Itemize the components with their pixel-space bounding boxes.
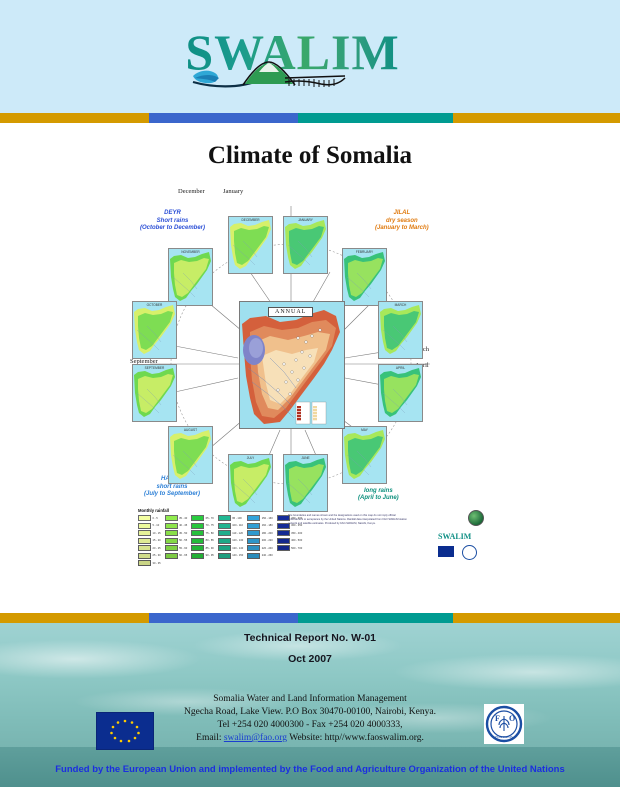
legend-swatch-label: 240 - 260 [262,554,273,557]
season-label-jilal: JILAL dry season (January to March) [375,210,429,233]
legend-swatch [165,530,178,536]
legend-swatch [191,515,204,521]
legend-swatch-label: 45 - 50 [179,532,187,535]
stripe-segment-teal [298,613,453,623]
legend-row: 150 - 160 [247,515,272,521]
monthly-map-caption: MARCH [379,303,422,307]
legend-column-1: 35 - 4040 - 4545 - 5050 - 5555 - 6060 - … [165,515,188,566]
legend-swatch-label: 400 - 500 [291,539,302,542]
legend-swatch [165,538,178,544]
email-link[interactable]: swalim@fao.org [224,733,287,743]
legend-swatch [277,545,290,551]
stripe-segment-gold-left [0,113,149,123]
legend-swatch-label: 120 - 130 [232,539,243,542]
legend-swatch-label: 0 - 5 [153,517,158,520]
monthly-map-march: MARCH [378,301,423,359]
legend-swatch-label: 5 - 10 [153,524,160,527]
address-line-phone: Tel +254 020 4000300 - Fax +254 020 4000… [0,719,620,732]
legend-swatch-label: 110 - 120 [232,532,243,535]
monthly-map-caption: FEBRUARY [343,250,386,254]
fao-logo-icon-small [462,545,477,560]
svg-text:F: F [495,714,500,723]
legend-row: 45 - 50 [165,530,188,536]
stripe-segment-gold-right [453,113,620,123]
figure-legend: Monthly rainfall 0 - 55 - 1010 - 1515 - … [138,508,486,566]
monthly-map-july: JULY [228,454,273,512]
legend-swatch-label: 150 - 160 [262,517,273,520]
legend-row: 350 - 400 [277,530,302,536]
monthly-map-graphic [284,455,327,511]
legend-swatch [138,523,151,529]
legend-row: 200 - 220 [247,538,272,544]
monthly-map-january: JANUARY [283,216,328,274]
page-header: SWALIM [0,0,620,113]
legend-swatch [165,523,178,529]
legend-row: 65 - 70 [191,515,214,521]
season-sub: long rains [364,488,393,494]
monthly-map-graphic [229,217,272,273]
legend-row: 180 - 200 [247,530,272,536]
legend-swatch-label: 80 - 85 [206,539,214,542]
legend-row: 110 - 120 [218,530,243,536]
stripe-segment-blue [149,113,298,123]
legend-swatch [218,523,231,529]
legend-title: Monthly rainfall [138,508,169,513]
monthly-map-june: JUNE [283,454,328,512]
legend-swatch [191,545,204,551]
legend-row: 25 - 30 [138,553,161,559]
legend-swatch [138,560,151,566]
season-period: (July to September) [144,491,200,497]
legend-swatch-label: 130 - 140 [232,547,243,550]
legend-swatch [191,523,204,529]
address-block: Somalia Water and Land Information Manag… [0,693,620,745]
legend-swatch-label: 55 - 60 [179,547,187,550]
legend-swatch-label: 60 - 65 [179,554,187,557]
legend-row: 130 - 140 [218,545,243,551]
monthly-map-caption: MAY [343,428,386,432]
legend-swatch-label: 65 - 70 [206,517,214,520]
svg-text:O: O [509,714,515,723]
legend-column-0: 0 - 55 - 1010 - 1515 - 2020 - 2525 - 303… [138,515,161,566]
legend-row: 10 - 15 [138,530,161,536]
eu-flag-icon-small [438,546,454,557]
legend-swatch-label: 500 - 700 [291,547,302,550]
address-line-email: Email: swalim@fao.org Website: http//www… [0,732,620,745]
legend-swatch [218,545,231,551]
header-stripe [0,113,620,123]
season-sub: Short rains [157,218,189,224]
legend-swatch [191,553,204,559]
monthly-map-caption: JUNE [284,456,327,460]
season-name: DEYR [164,210,181,216]
monthly-map-graphic [169,249,212,305]
legend-swatch-label: 70 - 75 [206,524,214,527]
legend-row: 60 - 65 [165,553,188,559]
month-label-january: January [223,188,243,195]
legend-row: 140 - 150 [218,553,243,559]
legend-swatch [247,538,260,544]
legend-swatch [277,530,290,536]
legend-row: 95 - 100 [218,515,243,521]
legend-swatch-label: 40 - 45 [179,524,187,527]
legend-swatch [247,553,260,559]
legend-swatch-label: 100 - 110 [232,524,243,527]
legend-row: 500 - 700 [277,545,302,551]
legend-swatch-label: 350 - 400 [291,532,302,535]
monthly-map-graphic [133,302,176,358]
monthly-map-graphic [229,455,272,511]
page-footer: Technical Report No. W-01 Oct 2007 Somal… [0,623,620,787]
report-date: Oct 2007 [0,653,620,665]
legend-swatch [191,530,204,536]
monthly-map-graphic [379,365,422,421]
svg-text:FIAT PANIS: FIAT PANIS [495,735,513,739]
legend-row: 50 - 55 [165,538,188,544]
season-label-deyr: DEYR Short rains (October to December) [140,210,205,233]
legend-swatch [191,538,204,544]
legend-swatch-label: 220 - 240 [262,547,273,550]
funding-line: Funded by the European Union and impleme… [0,764,620,775]
climate-figure: DEYR Short rains (October to December) J… [130,186,490,568]
monthly-map-graphic [379,302,422,358]
monthly-map-august: AUGUST [168,426,213,484]
fao-logo-icon: F O FIAT PANIS [484,704,524,744]
monthly-map-graphic [284,217,327,273]
season-period: (October to December) [140,225,205,231]
season-sub: short rains [157,484,188,490]
legend-swatch-label: 20 - 25 [153,547,161,550]
legend-row: 80 - 85 [191,538,214,544]
annual-map-graphic [240,302,344,428]
monthly-map-caption: OCTOBER [133,303,176,307]
monthly-map-september: SEPTEMBER [132,364,177,422]
eu-flag-icon [96,712,154,750]
report-number: Technical Report No. W-01 [0,632,620,644]
legend-swatch-label: 95 - 100 [232,517,242,520]
legend-swatch-label: 140 - 150 [232,554,243,557]
stripe-segment-gold-left [0,613,149,623]
legend-row: 90 - 95 [191,553,214,559]
monthly-map-graphic [343,427,386,483]
legend-swatch-label: 30 - 35 [153,562,161,565]
monthly-map-caption: APRIL [379,366,422,370]
monthly-map-caption: NOVEMBER [169,250,212,254]
monthly-map-april: APRIL [378,364,423,422]
monthly-map-graphic [343,249,386,305]
stripe-segment-blue [149,613,298,623]
monthly-map-november: NOVEMBER [168,248,213,306]
monthly-map-may: MAY [342,426,387,484]
legend-swatch-label: 15 - 20 [153,539,161,542]
month-label-december: December [178,188,205,195]
legend-row: 100 - 110 [218,523,243,529]
address-line-street: Ngecha Road, Lake View. P.O Box 30470-00… [0,706,620,719]
legend-swatch-label: 25 - 30 [153,554,161,557]
monthly-map-caption: JULY [229,456,272,460]
legend-swatch-label: 160 - 180 [262,524,273,527]
legend-swatch-grid: 0 - 55 - 1010 - 1515 - 2020 - 2525 - 303… [138,515,302,566]
legend-row: 30 - 35 [138,560,161,566]
legend-swatch-label: 10 - 15 [153,532,161,535]
legend-swatch [165,545,178,551]
legend-row: 15 - 20 [138,538,161,544]
monthly-map-graphic [133,365,176,421]
legend-row: 55 - 60 [165,545,188,551]
legend-row: 0 - 5 [138,515,161,521]
legend-row: 400 - 500 [277,538,302,544]
legend-swatch [138,545,151,551]
footer-stripe [0,613,620,623]
legend-row: 40 - 45 [165,523,188,529]
legend-row: 85 - 90 [191,545,214,551]
legend-swatch-label: 50 - 55 [179,539,187,542]
monthly-map-caption: AUGUST [169,428,212,432]
email-label: Email: [196,733,224,743]
website-text: Website: http//www.faoswalim.org. [287,733,424,743]
legend-swatch-label: 90 - 95 [206,554,214,557]
legend-row: 70 - 75 [191,523,214,529]
monthly-map-february: FEBRUARY [342,248,387,306]
legend-row: 240 - 260 [247,553,272,559]
legend-row: 160 - 180 [247,523,272,529]
season-period: (January to March) [375,225,429,231]
legend-row: 5 - 10 [138,523,161,529]
legend-column-2: 65 - 7070 - 7575 - 8080 - 8585 - 9090 - … [191,515,214,566]
season-period: (April to June) [358,495,399,501]
legend-swatch-label: 180 - 200 [262,532,273,535]
swalim-small-logo: SWALIM [438,532,471,541]
legend-row: 75 - 80 [191,530,214,536]
legend-row: 20 - 25 [138,545,161,551]
eu-stars-icon [97,713,153,749]
legend-swatch-label: 85 - 90 [206,547,214,550]
legend-swatch-label: 75 - 80 [206,532,214,535]
legend-row: 120 - 130 [218,538,243,544]
legend-column-4: 150 - 160160 - 180180 - 200200 - 220220 … [247,515,272,566]
legend-swatch [277,538,290,544]
monthly-map-graphic [169,427,212,483]
legend-swatch [138,530,151,536]
season-sub: dry season [386,218,418,224]
legend-swatch-label: 200 - 220 [262,539,273,542]
legend-swatch [247,545,260,551]
page-title: Climate of Somalia [0,142,620,170]
legend-swatch [247,515,260,521]
legend-swatch [218,515,231,521]
monthly-map-caption: JANUARY [284,218,327,222]
legend-row: 220 - 240 [247,545,272,551]
legend-swatch [165,553,178,559]
legend-swatch [138,538,151,544]
annual-map-label: ANNUAL [268,307,313,317]
monthly-map-caption: SEPTEMBER [133,366,176,370]
fao-logo-graphic: F O FIAT PANIS [484,704,524,744]
legend-swatch [247,530,260,536]
legend-swatch [218,530,231,536]
legend-logo-group: SWALIM [430,510,486,562]
legend-swatch [247,523,260,529]
stripe-segment-teal [298,113,453,123]
stripe-segment-gold-right [453,613,620,623]
legend-swatch [218,553,231,559]
legend-column-3: 95 - 100100 - 110110 - 120120 - 130130 -… [218,515,243,566]
swalim-logo: SWALIM [185,26,400,96]
legend-swatch [218,538,231,544]
address-line-organization: Somalia Water and Land Information Manag… [0,693,620,706]
legend-swatch [138,515,151,521]
legend-swatch [165,515,178,521]
monthly-map-october: OCTOBER [132,301,177,359]
swalim-landscape-icon [185,60,400,92]
legend-swatch-label: 35 - 40 [179,517,187,520]
monthly-map-caption: DECEMBER [229,218,272,222]
annual-map: ANNUAL [239,301,345,429]
season-name: JILAL [394,210,411,216]
legend-row: 35 - 40 [165,515,188,521]
legend-swatch [138,553,151,559]
legend-note: The boundaries and names shown and the d… [288,514,408,526]
globe-icon [468,510,484,526]
monthly-map-december: DECEMBER [228,216,273,274]
